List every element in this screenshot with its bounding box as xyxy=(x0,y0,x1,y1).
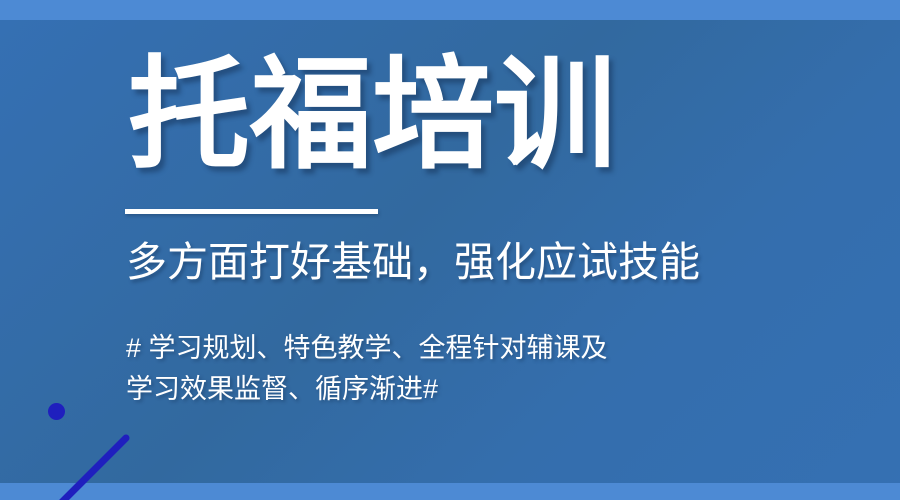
banner-title: 托福培训 xyxy=(128,50,616,182)
tagline-line-2: 学习效果监督、循序渐进# xyxy=(126,369,686,410)
banner-subtitle: 多方面打好基础，强化应试技能 xyxy=(126,238,700,287)
tagline-line-1: # 学习规划、特色教学、全程针对辅课及 xyxy=(126,328,686,369)
promo-banner: 托福培训 多方面打好基础，强化应试技能 # 学习规划、特色教学、全程针对辅课及 … xyxy=(0,0,900,500)
title-divider xyxy=(125,209,378,214)
banner-tagline: # 学习规划、特色教学、全程针对辅课及 学习效果监督、循序渐进# xyxy=(126,328,686,409)
decorative-dot xyxy=(48,403,65,420)
banner-content: 托福培训 多方面打好基础，强化应试技能 # 学习规划、特色教学、全程针对辅课及 … xyxy=(0,0,900,500)
